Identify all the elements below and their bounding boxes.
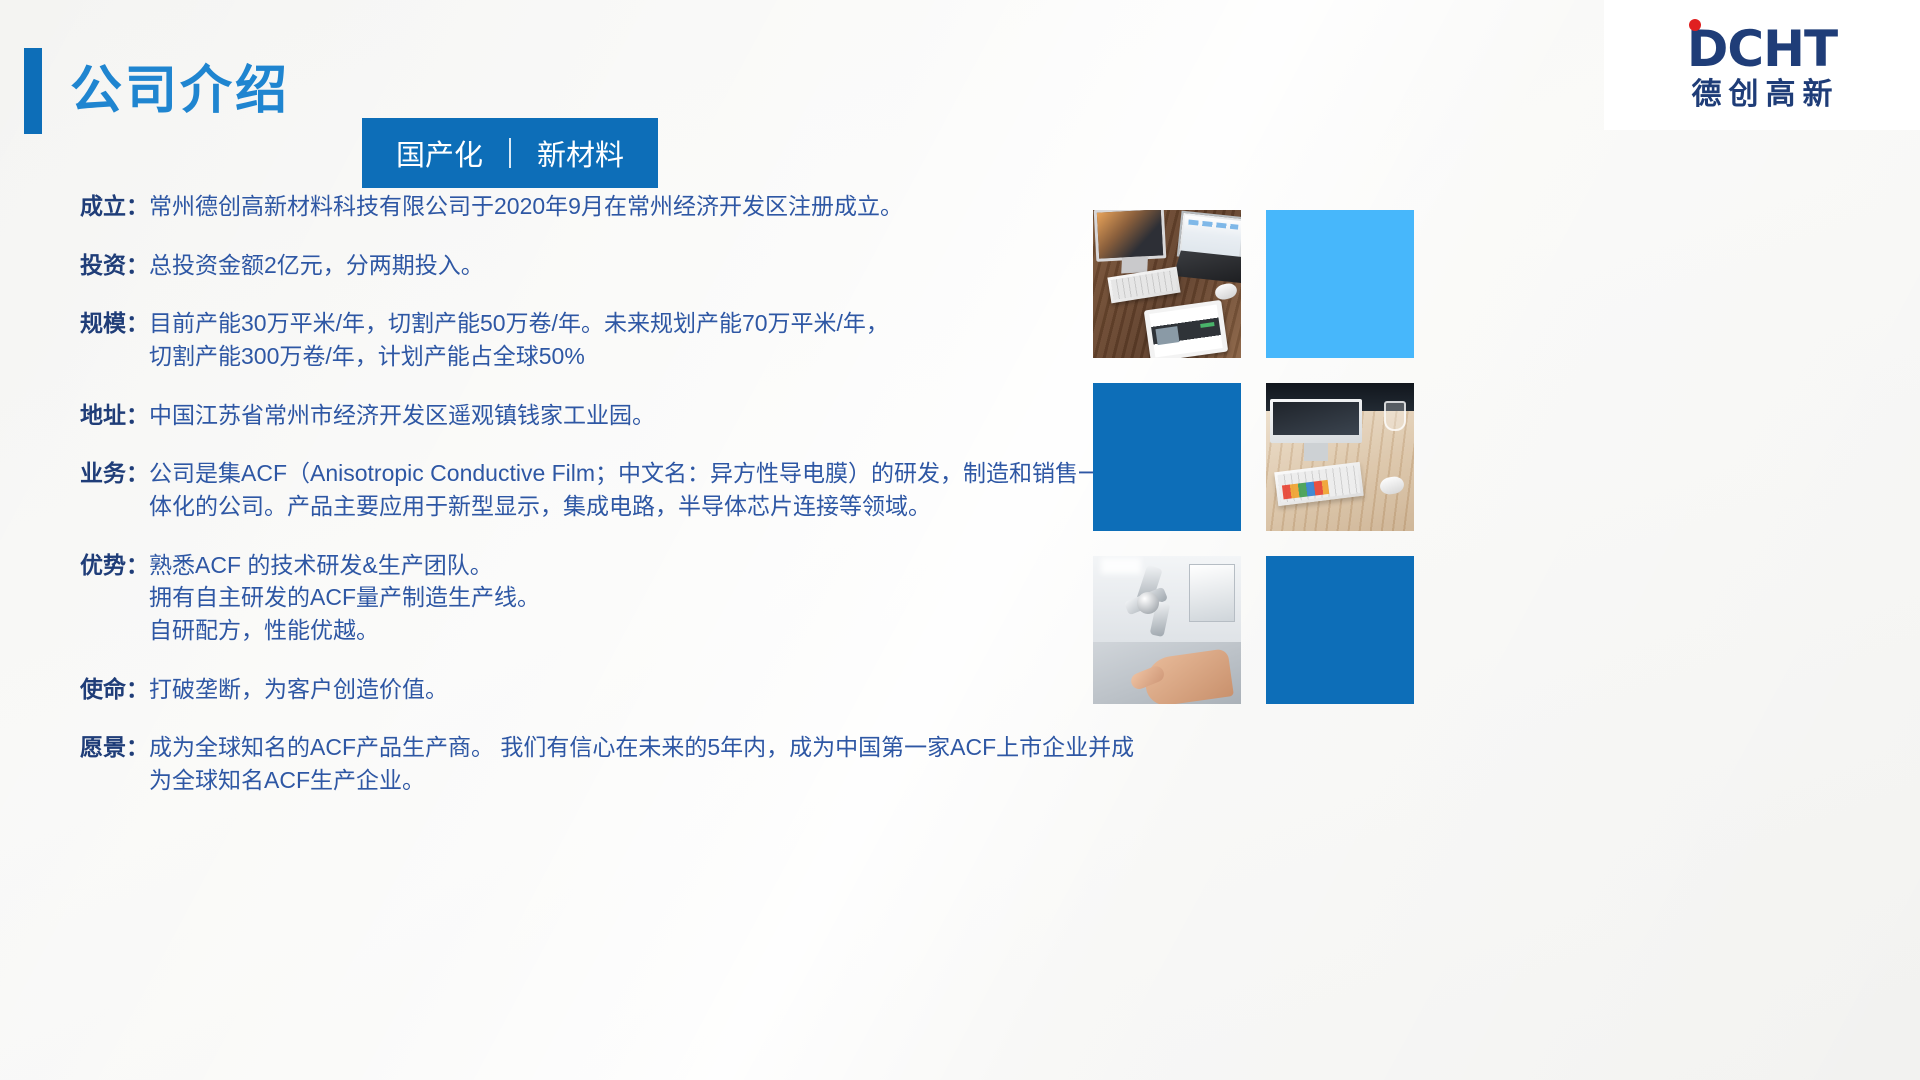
info-value: 打破垄断，为客户创造价值。 <box>149 673 1090 706</box>
info-value: 中国江苏省常州市经济开发区遥观镇钱家工业园。 <box>149 399 1090 432</box>
info-colon: ： <box>126 249 149 282</box>
info-line: 总投资金额2亿元，分两期投入。 <box>149 249 1090 282</box>
info-label: 愿景 <box>30 731 126 764</box>
info-label: 投资 <box>30 249 126 282</box>
info-line: 公司是集ACF（Anisotropic Conductive Film；中文名：… <box>149 457 1101 490</box>
image-gallery <box>1093 210 1414 704</box>
info-row-investment: 投资 ： 总投资金额2亿元，分两期投入。 <box>30 249 1090 282</box>
info-row-established: 成立 ： 常州德创高新材料科技有限公司于2020年9月在常州经济开发区注册成立。 <box>30 190 1090 223</box>
info-line: 体化的公司。产品主要应用于新型显示，集成电路，半导体芯片连接等领域。 <box>149 490 1101 523</box>
info-row-mission: 使命 ： 打破垄断，为客户创造价值。 <box>30 673 1090 706</box>
info-value: 熟悉ACF 的技术研发&生产团队。 拥有自主研发的ACF量产制造生产线。 自研配… <box>149 549 1090 647</box>
info-row-business: 业务 ： 公司是集ACF（Anisotropic Conductive Film… <box>30 457 1090 522</box>
info-line: 为全球知名ACF生产企业。 <box>149 764 1134 797</box>
info-label: 使命 <box>30 673 126 706</box>
info-line: 常州德创高新材料科技有限公司于2020年9月在常州经济开发区注册成立。 <box>149 190 1090 223</box>
info-label: 规模 <box>30 307 126 340</box>
robot-joint <box>1137 592 1159 614</box>
info-line: 拥有自主研发的ACF量产制造生产线。 <box>149 581 1090 614</box>
imac-icon <box>1094 210 1167 262</box>
info-label: 优势 <box>30 549 126 582</box>
info-row-address: 地址 ： 中国江苏省常州市经济开发区遥观镇钱家工业园。 <box>30 399 1090 432</box>
robot-arm-icon <box>1119 566 1187 640</box>
glass-icon <box>1384 401 1406 431</box>
logo-wordmark: DCHT <box>1687 24 1837 74</box>
desk-devices-photo <box>1093 210 1241 358</box>
info-colon: ： <box>126 673 149 706</box>
title-accent-bar <box>24 48 42 134</box>
imac-screen <box>1097 210 1163 259</box>
info-colon: ： <box>126 307 149 340</box>
info-line: 目前产能30万平米/年，切割产能50万卷/年。未来规划产能70万平米/年， <box>149 307 1090 340</box>
info-label: 地址 <box>30 399 126 432</box>
blue-tile <box>1093 383 1241 531</box>
info-colon: ： <box>126 457 149 490</box>
highlight-tag: 国产化 新材料 <box>362 118 658 188</box>
blue-tile-2 <box>1266 556 1414 704</box>
page-title-block: 公司介绍 <box>24 48 290 134</box>
info-line: 自研配方，性能优越。 <box>149 614 1090 647</box>
info-colon: ： <box>126 399 149 432</box>
info-line: 中国江苏省常州市经济开发区遥观镇钱家工业园。 <box>149 399 1090 432</box>
tablet-screen <box>1149 304 1222 357</box>
lab-robot-hand-photo <box>1093 556 1241 704</box>
info-colon: ： <box>126 731 149 764</box>
bright-desk-photo <box>1266 383 1414 531</box>
tag-label-left: 国产化 <box>396 132 483 174</box>
info-line: 成为全球知名的ACF产品生产商。 我们有信心在未来的5年内，成为中国第一家ACF… <box>149 731 1134 764</box>
monitor-icon <box>1270 399 1362 443</box>
info-value: 成为全球知名的ACF产品生产商。 我们有信心在未来的5年内，成为中国第一家ACF… <box>149 731 1134 796</box>
equipment-panel <box>1189 564 1235 622</box>
info-row-advantages: 优势 ： 熟悉ACF 的技术研发&生产团队。 拥有自主研发的ACF量产制造生产线… <box>30 549 1090 647</box>
logo-mark-text: DCHT <box>1687 20 1837 78</box>
info-colon: ： <box>126 549 149 582</box>
info-row-scale: 规模 ： 目前产能30万平米/年，切割产能50万卷/年。未来规划产能70万平米/… <box>30 307 1090 372</box>
info-value: 总投资金额2亿元，分两期投入。 <box>149 249 1090 282</box>
info-line: 打破垄断，为客户创造价值。 <box>149 673 1090 706</box>
company-info-list: 成立 ： 常州德创高新材料科技有限公司于2020年9月在常州经济开发区注册成立。… <box>30 190 1090 823</box>
info-colon: ： <box>126 190 149 223</box>
info-value: 目前产能30万平米/年，切割产能50万卷/年。未来规划产能70万平米/年， 切割… <box>149 307 1090 372</box>
tag-label-right: 新材料 <box>537 132 624 174</box>
page-title: 公司介绍 <box>70 65 290 117</box>
company-logo: DCHT 德创高新 <box>1604 0 1920 130</box>
info-label: 成立 <box>30 190 126 223</box>
light-blue-tile <box>1266 210 1414 358</box>
monitor-screen <box>1273 402 1359 435</box>
lab-light-glare <box>1101 558 1141 574</box>
tag-separator-icon <box>509 138 511 168</box>
info-label: 业务 <box>30 457 126 490</box>
info-row-vision: 愿景 ： 成为全球知名的ACF产品生产商。 我们有信心在未来的5年内，成为中国第… <box>30 731 1090 796</box>
logo-chinese-name: 德创高新 <box>1685 80 1840 110</box>
logo-red-dot-icon <box>1689 19 1701 31</box>
info-value: 公司是集ACF（Anisotropic Conductive Film；中文名：… <box>149 457 1101 522</box>
info-line: 熟悉ACF 的技术研发&生产团队。 <box>149 549 1090 582</box>
info-value: 常州德创高新材料科技有限公司于2020年9月在常州经济开发区注册成立。 <box>149 190 1090 223</box>
tablet-icon <box>1144 300 1228 358</box>
info-line: 切割产能300万卷/年，计划产能占全球50% <box>149 340 1090 373</box>
